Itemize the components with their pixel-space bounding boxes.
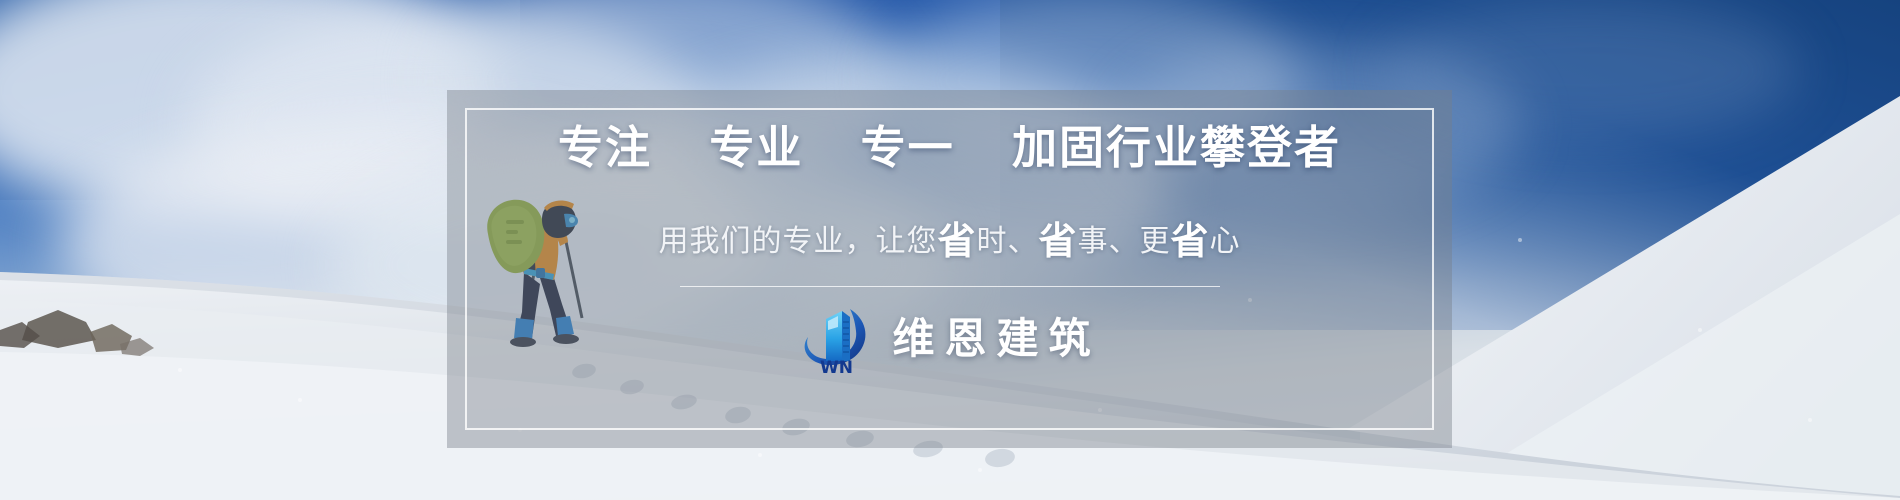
wn-building-swoosh-logo-icon: WN [798, 303, 876, 375]
logo-letters: WN [820, 358, 853, 375]
subtitle-emphasis: 省 [937, 219, 976, 263]
subtitle-emphasis: 省 [1171, 219, 1210, 263]
subtitle-emphasis: 省 [1038, 219, 1077, 263]
headline-segment-2: 专业 [709, 121, 803, 174]
content-divider [680, 286, 1220, 287]
headline-segment-4: 加固行业攀登者 [1012, 121, 1341, 174]
headline-segment-3: 专一 [861, 121, 955, 174]
banner-headline: 专注 专业 专一 加固行业攀登者 [558, 125, 1341, 170]
banner-subtitle: 用我们的专业，让您省时、省事、更省心 [658, 222, 1240, 260]
brand-name: 维恩建筑 [892, 318, 1100, 360]
banner-content: 专注 专业 专一 加固行业攀登者 用我们的专业，让您省时、省事、更省心 [447, 90, 1452, 448]
subtitle-part: 心 [1210, 224, 1241, 259]
banner-root: 专注 专业 专一 加固行业攀登者 用我们的专业，让您省时、省事、更省心 [0, 0, 1900, 500]
subtitle-part: 用我们的专业，让您 [658, 224, 937, 259]
headline-segment-1: 专注 [558, 121, 652, 174]
subtitle-part: 事、更 [1078, 224, 1171, 259]
subtitle-part: 时、 [976, 224, 1038, 259]
brand-lockup: WN 维恩建筑 [798, 303, 1100, 375]
